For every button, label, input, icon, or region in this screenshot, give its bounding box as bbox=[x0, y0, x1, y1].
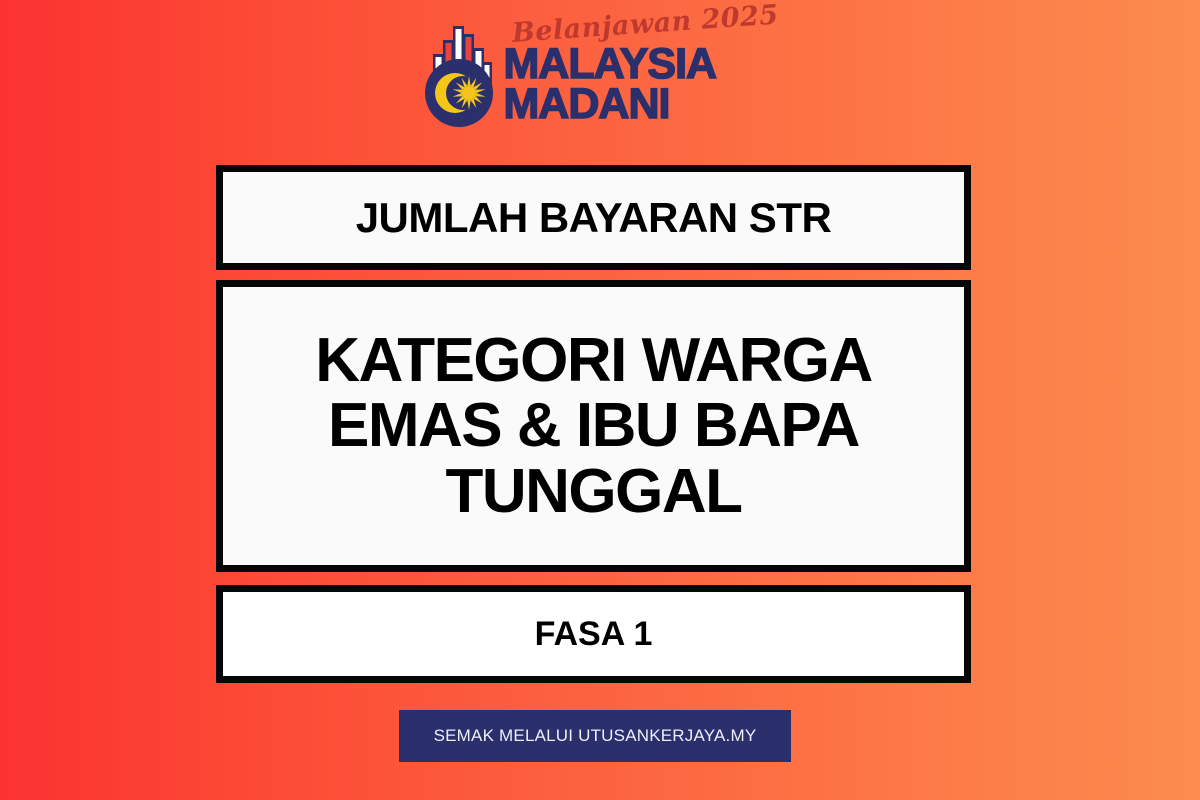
check-website-cta-bar[interactable]: SEMAK MELALUI UTUSANKERJAYA.MY bbox=[399, 710, 791, 762]
payment-title-panel: JUMLAH BAYARAN STR bbox=[216, 165, 971, 270]
brand-logo-block: Belanjawan 2025 MALAYSIA MADANI bbox=[0, 18, 1200, 130]
logo-inner: Belanjawan 2025 MALAYSIA MADANI bbox=[419, 18, 780, 130]
category-line-2: EMAS & IBU BAPA bbox=[315, 393, 872, 458]
payment-title-text: JUMLAH BAYARAN STR bbox=[356, 194, 832, 242]
logo-wordmark-group: Belanjawan 2025 MALAYSIA MADANI bbox=[503, 18, 780, 124]
phase-text: FASA 1 bbox=[535, 615, 653, 654]
category-line-3: TUNGGAL bbox=[315, 459, 872, 524]
category-line-1: KATEGORI WARGA bbox=[315, 328, 872, 393]
phase-panel: FASA 1 bbox=[216, 585, 971, 683]
malaysia-madani-emblem-icon bbox=[419, 18, 499, 130]
wordmark-malaysia: MALAYSIA bbox=[503, 45, 780, 85]
wordmark-madani: MADANI bbox=[503, 85, 780, 125]
category-panel: KATEGORI WARGA EMAS & IBU BAPA TUNGGAL bbox=[216, 280, 971, 572]
check-website-cta-label: SEMAK MELALUI UTUSANKERJAYA.MY bbox=[434, 726, 757, 746]
category-text-block: KATEGORI WARGA EMAS & IBU BAPA TUNGGAL bbox=[315, 328, 872, 523]
